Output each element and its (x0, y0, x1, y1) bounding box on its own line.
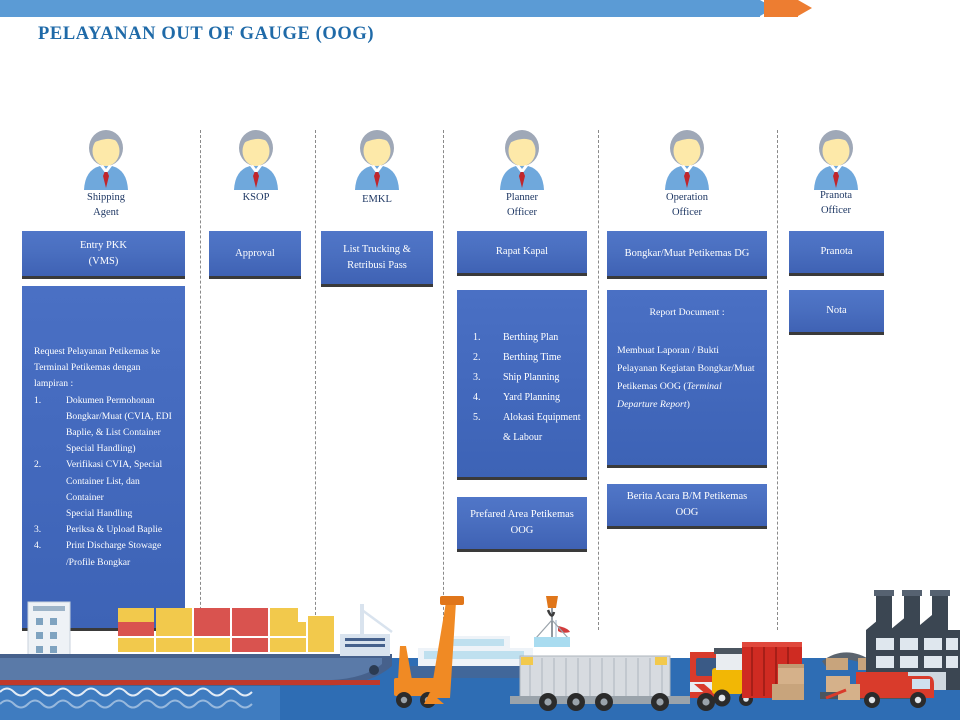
list-label: Ship Planning (503, 372, 559, 383)
role-label-emkl: EMKL (317, 192, 437, 207)
process-box-prefared-area[interactable]: Prefared Area Petikemas OOG (457, 497, 587, 552)
planning-list-item: 5. Alokasi Equipment (467, 408, 581, 428)
role-label-operation-officer: Operation Officer (627, 190, 747, 220)
list-line-1: Periksa & Upload Baplie (66, 524, 162, 535)
avatar-pranota-officer (806, 128, 866, 190)
process-box-approval[interactable]: Approval (209, 231, 301, 279)
report-body-line-1: Membuat Laporan / Bukti (617, 342, 757, 360)
request-list-item: 3. Periksa & Upload Baplie (34, 522, 175, 538)
process-box-rapat-kapal[interactable]: Rapat Kapal (457, 231, 587, 276)
report-body-line-3-pre: Petikemas OOG ( (617, 381, 687, 392)
report-body-line-3-italic: Terminal (687, 381, 722, 392)
planning-list-item: 3. Ship Planning (467, 368, 581, 388)
rapat-kapal-label: Rapat Kapal (457, 244, 587, 260)
role-line-2: Officer (627, 205, 747, 220)
list-trucking-line-1: List Trucking & (329, 242, 425, 258)
entry-pkk-line-2: (VMS) (30, 254, 177, 270)
report-body-line-3: Petikemas OOG (Terminal (617, 378, 757, 396)
list-line-2: /Profile Bongkar (66, 557, 130, 568)
process-box-planning-list[interactable]: 1. Berthing Plan 2. Berthing Time 3. Shi… (457, 290, 587, 480)
role-line-2: Officer (462, 205, 582, 220)
list-number: 4. (34, 538, 58, 554)
report-body-line-4-post: ) (687, 399, 690, 410)
list-label: Berthing Time (503, 352, 561, 363)
list-number: 4. (473, 388, 481, 408)
list-line-2: Bongkar/Muat (CVIA, EDI (66, 411, 172, 422)
lane-separator-2 (315, 130, 316, 630)
role-line-1: Planner (462, 190, 582, 205)
port-logistics-illustration (0, 580, 960, 720)
request-intro-line-3: lampiran : (34, 376, 175, 392)
planning-list-item: 4. Yard Planning (467, 388, 581, 408)
process-box-pranota[interactable]: Pranota (789, 231, 884, 276)
lane-separator-4 (598, 130, 599, 630)
header-orange-chevron (764, 0, 798, 17)
role-line-1: KSOP (196, 190, 316, 205)
process-box-entry-pkk[interactable]: Entry PKK (VMS) (22, 231, 185, 279)
role-line-1: Pranota (776, 188, 896, 203)
list-line-3: Special Handling (66, 508, 132, 519)
list-line-1: Dokumen Permohonan (66, 395, 155, 406)
report-heading: Report Document : (617, 304, 757, 322)
list-line-1: Verifikasi CVIA, Special (66, 459, 162, 470)
avatar-shipping-agent (76, 128, 136, 190)
header-blue-bar (0, 0, 760, 17)
avatar-ksop (226, 128, 286, 190)
lane-separator-1 (200, 130, 201, 630)
list-label: Alokasi Equipment (503, 412, 581, 423)
role-line-1: EMKL (317, 192, 437, 207)
request-list-item: 1. Dokumen Permohonan Bongkar/Muat (CVIA… (34, 393, 175, 458)
process-box-bongkar-muat-dg[interactable]: Bongkar/Muat Petikemas DG (607, 231, 767, 279)
process-box-nota[interactable]: Nota (789, 290, 884, 335)
list-number: 1. (473, 328, 481, 348)
role-label-ksop: KSOP (196, 190, 316, 205)
planning-list-item: 1. Berthing Plan (467, 328, 581, 348)
approval-label: Approval (209, 246, 301, 262)
process-box-list-trucking[interactable]: List Trucking & Retribusi Pass (321, 231, 433, 287)
list-line-2: Container List, dan Container (66, 476, 140, 503)
berita-acara-label: Berita Acara B/M Petikemas OOG (607, 489, 767, 521)
planning-list-continuation: & Labour (467, 428, 581, 448)
report-body-line-4: Departure Report) (617, 396, 757, 414)
role-label-shipping-agent: Shipping Agent (46, 190, 166, 220)
list-line-3: Baplie, & List Container (66, 427, 161, 438)
role-line-1: Operation (627, 190, 747, 205)
pranota-label: Pranota (789, 244, 884, 260)
process-box-report-document[interactable]: Report Document : Membuat Laporan / Bukt… (607, 290, 767, 468)
list-number: 2. (473, 348, 481, 368)
avatar-operation-officer (657, 128, 717, 190)
avatar-planner-officer (492, 128, 552, 190)
list-trucking-line-2: Retribusi Pass (329, 258, 425, 274)
prefared-line-1: Prefared Area Petikemas (465, 507, 579, 523)
list-line-1: Print Discharge Stowage (66, 540, 161, 551)
process-box-berita-acara[interactable]: Berita Acara B/M Petikemas OOG (607, 484, 767, 529)
lane-separator-3 (443, 130, 444, 630)
list-number: 3. (34, 522, 58, 538)
avatar-emkl (347, 128, 407, 190)
report-body-line-2: Pelayanan Kegiatan Bongkar/Muat (617, 360, 757, 378)
page-title: PELAYANAN OUT OF GAUGE (OOG) (38, 24, 374, 45)
request-list-item: 2. Verifikasi CVIA, Special Container Li… (34, 457, 175, 522)
role-line-1: Shipping (46, 190, 166, 205)
list-label: Yard Planning (503, 392, 560, 403)
role-label-planner-officer: Planner Officer (462, 190, 582, 220)
report-body-line-4-italic: Departure Report (617, 399, 687, 410)
role-line-2: Agent (46, 205, 166, 220)
role-line-2: Officer (776, 203, 896, 218)
nota-label: Nota (789, 303, 884, 319)
role-label-pranota-officer: Pranota Officer (776, 188, 896, 218)
request-intro-line-1: Request Pelayanan Petikemas ke (34, 344, 175, 360)
request-list-item: 4. Print Discharge Stowage /Profile Bong… (34, 538, 175, 570)
bongkar-muat-dg-label: Bongkar/Muat Petikemas DG (607, 246, 767, 262)
list-line-4: Special Handling) (66, 443, 136, 454)
request-intro-line-2: Terminal Petikemas dengan (34, 360, 175, 376)
planning-list-item: 2. Berthing Time (467, 348, 581, 368)
list-number: 1. (34, 393, 58, 409)
prefared-line-2: OOG (465, 523, 579, 539)
list-number: 5. (473, 408, 481, 428)
list-number: 3. (473, 368, 481, 388)
entry-pkk-line-1: Entry PKK (30, 238, 177, 254)
list-number: 2. (34, 457, 58, 473)
list-label: Berthing Plan (503, 332, 558, 343)
